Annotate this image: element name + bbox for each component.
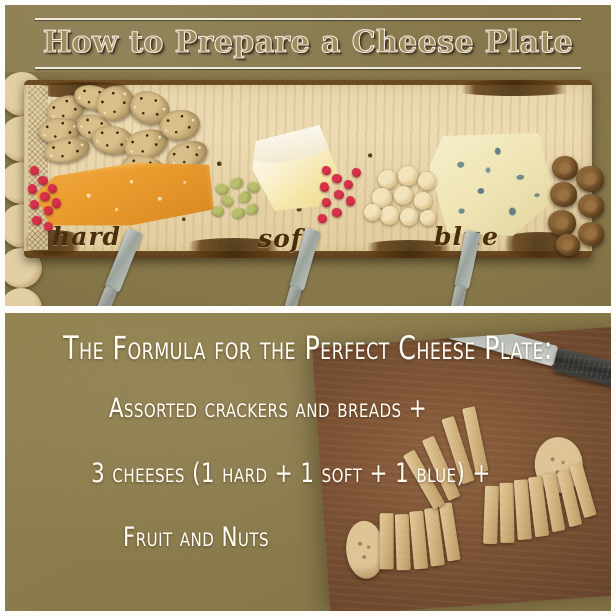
board-burn-mark: [444, 80, 584, 96]
pomegranate-seed: [40, 192, 50, 201]
pomegranate-seed: [52, 198, 61, 208]
pomegranate-seed: [332, 174, 342, 183]
formula-line-fruit-nuts: Fruit and Nuts: [24, 521, 369, 555]
board-label-hard: hard: [52, 222, 121, 251]
formula-line-crackers: Assorted crackers and breads +: [32, 392, 504, 426]
formula-heading: The Formula for the Perfect Cheese Plate…: [37, 329, 579, 367]
macadamia-nut: [364, 204, 381, 221]
pomegranate-seed: [334, 190, 344, 199]
bottom-panel: The Formula for the Perfect Cheese Plate…: [0, 313, 616, 616]
top-panel: How to Prepare a Cheese Plate: [0, 0, 616, 306]
pomegranate-seed: [346, 196, 355, 206]
dried-fig: [552, 156, 578, 180]
macadamia-nut: [400, 208, 418, 226]
title-rule-top: [35, 18, 581, 20]
baguette-slice: [0, 288, 42, 306]
macadamia-nut: [398, 166, 418, 186]
dried-fig: [548, 210, 576, 236]
pomegranate-seed: [30, 200, 39, 209]
pomegranate-seed: [38, 176, 48, 185]
pomegranate-seed: [320, 182, 329, 192]
pin-graphic: How to Prepare a Cheese Plate: [0, 0, 616, 616]
cheese-plate-photo: hard soft blue: [0, 72, 616, 306]
pomegranate-seed: [44, 206, 53, 215]
title-block: How to Prepare a Cheese Plate: [0, 14, 616, 72]
title-rule-bottom: [35, 67, 581, 69]
pomegranate-seed: [28, 184, 37, 194]
macadamia-nut: [394, 186, 413, 205]
dried-fig: [556, 234, 580, 256]
panel-divider: [0, 306, 616, 313]
pomegranate-seed: [30, 166, 39, 175]
pomegranate-seed: [352, 168, 361, 177]
formula-text-block: The Formula for the Perfect Cheese Plate…: [0, 313, 616, 616]
pomegranate-seed: [48, 184, 57, 193]
macadamia-nut: [418, 172, 436, 190]
macadamia-nut: [380, 206, 399, 225]
pomegranate-seed: [32, 216, 42, 225]
dried-fig: [578, 222, 604, 246]
pomegranate-seed: [318, 214, 327, 223]
dried-fig: [578, 194, 604, 218]
dried-fig: [576, 166, 604, 192]
dried-fig: [550, 182, 577, 207]
pomegranate-seed: [322, 198, 331, 207]
formula-line-cheeses: 3 cheeses (1 hard + 1 soft + 1 blue) +: [35, 457, 547, 491]
macadamia-nut: [414, 192, 432, 210]
page-title: How to Prepare a Cheese Plate: [0, 22, 616, 64]
pomegranate-seed: [344, 180, 353, 189]
pomegranate-seed: [322, 166, 331, 175]
macadamia-nut: [378, 170, 397, 189]
pomegranate-seed: [332, 208, 342, 217]
